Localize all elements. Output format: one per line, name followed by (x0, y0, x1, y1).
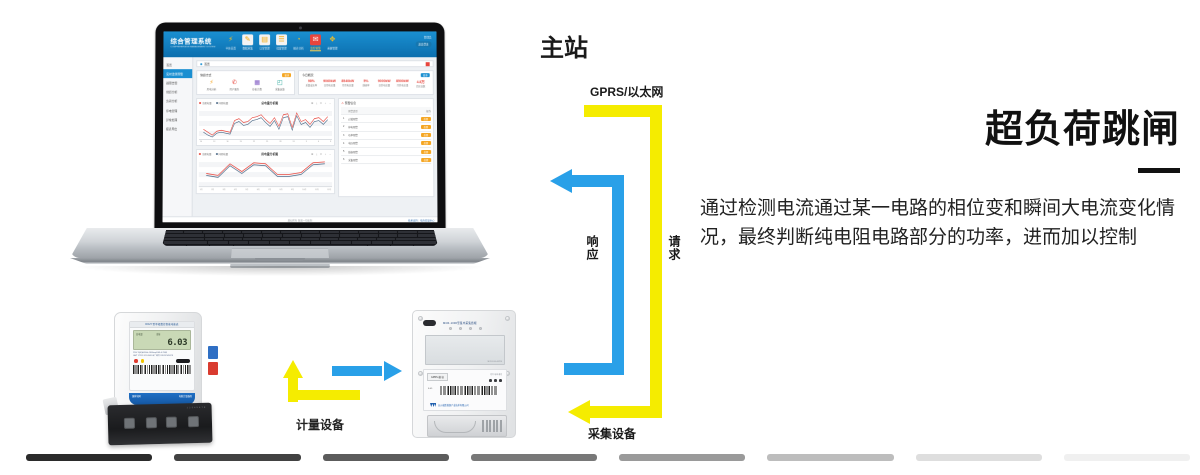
alert-row-2-no: 3 (341, 134, 346, 137)
keyboard-row (162, 238, 438, 241)
meter-barcode (133, 365, 191, 374)
led-comm-icon (469, 327, 472, 330)
footer-right: 技术支持：电力信息中心 (408, 218, 434, 222)
terminal-screw-icon (188, 416, 199, 427)
laptop-illustration: 综合管理系统 COMPREHENSIVE MANAGEMENT SYSTEM ⚡… (70, 22, 490, 302)
chart-0-xtick-5: 25 (266, 141, 268, 143)
meter-side-button-red[interactable] (208, 362, 218, 375)
toolbar-label-4: 统计分析 (293, 46, 304, 50)
yellow-arrow-head-up (283, 360, 303, 378)
alert-row-5-action[interactable]: 处理 (421, 158, 431, 162)
bottom-bar-6 (916, 454, 1042, 461)
alert-row-0-action[interactable]: 处理 (421, 117, 431, 121)
collector-lcd-caption: MCR-1000-GPRS (488, 361, 502, 363)
table-row[interactable]: 3 功率预警 处理 (341, 132, 431, 140)
yellow-arrow-horizontal (288, 390, 360, 400)
dashboard-lower: 当期电量 同期电量 总电量分析图 (196, 98, 435, 197)
meter-panel-title: DDZY型单相费控智能电能表 (130, 322, 194, 328)
table-row[interactable]: 5 线损预警 处理 (341, 148, 431, 156)
dashboard-toolbar: ⚡ 平台首页 ✎ 数据采集 ▤ 日常管理 (225, 31, 338, 51)
chart-1-xtick-7: 8月 (280, 188, 283, 191)
infographic-canvas: 综合管理系统 COMPREHENSIVE MANAGEMENT SYSTEM ⚡… (0, 0, 1200, 475)
logout-button[interactable]: 退出登录 (415, 41, 431, 47)
chart-1-title: 用电量分析图 (261, 152, 278, 156)
calendar-icon: ▤ (259, 34, 270, 45)
lcd-label-left: 总电量 (136, 332, 143, 336)
shortcut-item-2[interactable]: ▦ 抄表计费 (250, 80, 264, 91)
dashboard-app: 综合管理系统 COMPREHENSIVE MANAGEMENT SYSTEM ⚡… (162, 31, 437, 222)
toolbar-item-5[interactable]: ✉ 监控预警 (310, 34, 321, 51)
dashboard-body: 首页 实时监测预警 越限告警 线损分析 负荷分析 停电管理 异常处理 报表导出 (162, 57, 437, 222)
sidebar-item-6[interactable]: 异常处理 (163, 115, 192, 124)
table-row[interactable]: 4 电压预警 处理 (341, 140, 431, 148)
bottom-gradient-bars (0, 454, 1200, 461)
alert-table-head-row: 预警类型 操作 (341, 107, 431, 115)
toolbar-item-3[interactable]: ☰ 档案管理 (276, 34, 287, 51)
sidebar-item-0[interactable]: 首页 (163, 60, 192, 69)
terminal-screw-icon (166, 417, 177, 428)
chart-1-xtick-4: 5月 (245, 188, 248, 191)
blue-arrow-head-right (384, 361, 402, 381)
bottom-bar-3 (471, 454, 597, 461)
chart-0-xtick-3: 19 (240, 141, 242, 143)
app-brand-sub: COMPREHENSIVE MANAGEMENT SYSTEM (170, 46, 225, 48)
collector-title: MCR-1000型集中采集终端 (443, 321, 477, 325)
webcam-icon (299, 26, 302, 29)
meter-terminal-text: 1 2 3 4 5 6 7 8 (187, 407, 206, 409)
meter-lcd: 总电量 当前 6.03 (133, 330, 191, 350)
kpi-item-1: 9060kW 日用电总量 (320, 79, 338, 88)
dashboard-footer: 版权所有 保留一切权利 技术支持：电力信息中心 (162, 216, 437, 222)
kpi-label-6: 台区总数 (412, 84, 430, 88)
sidebar-item-5[interactable]: 停电管理 (163, 106, 192, 115)
table-row[interactable]: 1 过载预警 处理 (341, 115, 431, 123)
toolbar-label-1: 数据采集 (242, 46, 253, 50)
list-icon: ☰ (276, 34, 287, 45)
blue-arrow-stem (332, 366, 382, 376)
kpi-item-2: 8540kW 月用电总量 (339, 79, 357, 88)
lightning-icon: ⚡ (225, 34, 236, 45)
shortcut-icon-0: ⚡ (205, 80, 219, 87)
chart-0-title: 总电量分析图 (261, 101, 278, 105)
alert-row-4-no: 5 (341, 150, 346, 153)
bottom-bar-0 (26, 454, 152, 461)
kpi-label-3: 线损率 (357, 83, 375, 87)
close-icon[interactable] (426, 62, 430, 66)
chart-1-xtick-6: 7月 (268, 188, 271, 191)
collector-pins (482, 420, 502, 432)
dashboard-main: 首页 快捷方式 更多 (193, 57, 438, 222)
sidebar-item-2[interactable]: 越限告警 (163, 78, 192, 87)
app-brand: 综合管理系统 COMPREHENSIVE MANAGEMENT SYSTEM (163, 31, 225, 48)
toolbar-item-4[interactable]: ◔ 统计分析 (293, 34, 304, 51)
shortcut-list: ⚡ 用电分析 ✆ 用户服务 ▦ (200, 79, 291, 91)
chart-0-xtick-2: 16 (226, 141, 228, 143)
chart-0-plot (199, 106, 332, 140)
led-run-icon (459, 327, 462, 330)
alert-col-2: 操作 (426, 109, 431, 113)
table-row[interactable]: 2 停电预警 处理 (341, 123, 431, 131)
current-user: 管理员 (415, 35, 431, 39)
gprs-link-label: GPRS/以太网 (590, 83, 663, 100)
keyboard-row (162, 231, 438, 234)
chart-1-legend-label-0: 当期电量 (202, 152, 212, 156)
module-led-icon (489, 379, 492, 382)
laptop-screen: 综合管理系统 COMPREHENSIVE MANAGEMENT SYSTEM ⚡… (162, 31, 437, 222)
shortcut-label-2: 抄表计费 (250, 87, 264, 91)
dashboard-tabbar: 首页 (196, 60, 433, 67)
alert-row-5-no: 6 (341, 158, 346, 161)
led-alarm-icon (479, 327, 482, 330)
collector-module-label: GPRS 模 块 (427, 373, 448, 381)
main-station-label: 主站 (540, 28, 588, 63)
collector-barcode (440, 386, 498, 395)
meter-badge-right: 电能计量器具 (179, 394, 192, 398)
alert-row-2-action[interactable]: 处理 (421, 133, 431, 137)
chart-0-tools[interactable]: ⊞ ⤓ ⟳ ⌕ ⌄ (311, 102, 332, 105)
screw-icon (505, 316, 510, 321)
bottom-bar-2 (323, 454, 449, 461)
kpi-list: 98% 采集成功率 9060kW 日用电总量 8540k (302, 79, 430, 88)
alert-row-1-action[interactable]: 处理 (421, 125, 431, 129)
shortcut-card-header: 快捷方式 更多 (200, 73, 291, 77)
alert-col-1: 预警类型 (348, 109, 424, 113)
chart-0-legend-1[interactable]: 同期电量 (216, 101, 229, 105)
chart-0-legend: 当期电量 同期电量 (199, 101, 228, 105)
keyboard-row (162, 234, 438, 237)
chart-1-xtick-1: 2月 (211, 188, 214, 191)
keyboard-row (162, 241, 438, 244)
chart-0-xtick-9: 6 (318, 141, 319, 143)
shortcut-item-0[interactable]: ⚡ 用电分析 (205, 80, 219, 91)
toolbar-label-2: 日常管理 (259, 46, 270, 50)
collector-leds (449, 327, 482, 330)
lcd-label-right: 当前 (156, 332, 160, 336)
alert-table-header: ⚠ 预警信息 (341, 101, 431, 105)
alert-row-3-action[interactable]: 处理 (421, 141, 431, 145)
dashboard-sidebar: 首页 实时监测预警 越限告警 线损分析 负荷分析 停电管理 异常处理 报表导出 (162, 57, 193, 222)
collector-terminal-block (427, 415, 507, 437)
toolbar-label-6: 系统管理 (327, 46, 338, 50)
meter-side-button-blue[interactable] (208, 346, 218, 359)
yellow-arrow-stem (288, 376, 298, 402)
kpi-card: 今日概况 更多 98% 采集成功率 (298, 70, 434, 95)
module-led-icon (494, 379, 497, 382)
alert-row-4-type: 线损预警 (348, 150, 419, 154)
tab-home[interactable]: 首页 (204, 62, 210, 66)
blue-response-top (572, 175, 624, 187)
kpi-label-1: 日用电总量 (320, 83, 338, 87)
toolbar-item-1[interactable]: ✎ 数据采集 (242, 34, 253, 51)
chart-0-xtick-7: 31 (293, 141, 295, 143)
kpi-card-title: 今日概况 (302, 73, 313, 77)
collector-barcode-label: K-09 (428, 388, 432, 390)
gear-icon: ✥ (327, 34, 338, 45)
collector-module-area: GPRS 模 块 信号 电源 通信 K-09 长沙威胜能源产业技术有限公司 (423, 369, 507, 411)
bottom-bar-1 (174, 454, 300, 461)
meter-panel: DDZY型单相费控智能电能表 总电量 当前 6.03 220V 5(60)A 5… (129, 321, 195, 391)
lcd-value: 6.03 (167, 339, 187, 348)
page-description: 通过检测电流通过某一电路的相位变和瞬间大电流变化情况，最终判断纯电阻电路部分的功… (660, 194, 1180, 253)
sidebar-item-7[interactable]: 报表导出 (163, 124, 192, 133)
chart-0-xtick-0: 10 (200, 141, 202, 143)
chart-0-xaxis: 10 13 16 19 22 25 28 31 (199, 141, 332, 143)
chart-total-power: 当期电量 同期电量 总电量分析图 (196, 98, 335, 146)
chart-0-legend-label-1: 同期电量 (219, 101, 229, 105)
legend-dot-icon (199, 153, 201, 155)
bottom-bar-7 (1064, 454, 1190, 461)
laptop-notch (255, 258, 305, 261)
alert-table-title: 预警信息 (345, 101, 356, 105)
shortcut-icon-3: ◰ (273, 80, 287, 87)
kpi-label-4: 日供电总量 (375, 83, 393, 87)
chart-1-tools[interactable]: ⊞ ⤓ ⟳ ⌕ ⌄ (311, 153, 332, 156)
toolbar-item-2[interactable]: ▤ 日常管理 (259, 34, 270, 51)
keyboard-row (162, 245, 438, 246)
kpi-card-header: 今日概况 更多 (302, 73, 430, 77)
alert-row-2-type: 功率预警 (348, 133, 418, 137)
sidebar-item-1[interactable]: 实时监测预警 (163, 69, 192, 78)
alert-row-5-type: 采集预警 (348, 158, 419, 162)
shortcut-card: 快捷方式 更多 ⚡ 用电分析 (196, 70, 295, 95)
chart-1-legend: 当期电量 同期电量 (199, 152, 228, 156)
chart-1-legend-1[interactable]: 同期电量 (215, 152, 228, 156)
kpi-label-2: 月用电总量 (339, 83, 357, 87)
alert-row-1-type: 停电预警 (348, 125, 418, 129)
chart-1-xtick-10: 11月 (315, 188, 319, 191)
chart-1-xtick-9: 10月 (302, 188, 306, 191)
shortcut-label-3: 采集运维 (273, 87, 287, 91)
chart-0-svg (199, 106, 332, 139)
dashboard-user-area: 管理员 退出登录 (415, 35, 431, 47)
shortcut-item-3[interactable]: ◰ 采集运维 (273, 80, 287, 91)
terminal-screw-icon (124, 418, 135, 429)
alert-row-0-type: 过载预警 (348, 117, 418, 121)
dashboard-cards: 快捷方式 更多 ⚡ 用电分析 (196, 70, 434, 95)
collector-wire (434, 421, 476, 433)
meter-body: DDZY型单相费控智能电能表 总电量 当前 6.03 220V 5(60)A 5… (114, 312, 202, 410)
laptop-lid: 综合管理系统 COMPREHENSIVE MANAGEMENT SYSTEM ⚡… (154, 22, 445, 232)
table-row[interactable]: 6 采集预警 处理 (341, 156, 431, 164)
headline-block: 超负荷跳闸 通过检测电流通过某一电路的相位变和瞬间大电流变化情况，最终判断纯电阻… (660, 110, 1180, 253)
dashboard-header: 综合管理系统 COMPREHENSIVE MANAGEMENT SYSTEM ⚡… (163, 31, 436, 57)
app-brand-name: 综合管理系统 (170, 38, 211, 45)
chart-0-xtick-4: 22 (253, 141, 255, 143)
chart-0-header: 当期电量 同期电量 总电量分析图 (199, 101, 332, 105)
shortcut-label-1: 用户服务 (227, 87, 241, 91)
legend-dot-icon (199, 102, 201, 104)
collector-device-label: 采集设备 (588, 425, 636, 442)
alert-row-3-type: 电压预警 (348, 141, 418, 145)
pie-chart-icon: ◔ (293, 34, 304, 45)
data-collector: MCR-1000型集中采集终端 MCR-1000-GPRS GPRS 模 块 信… (408, 310, 520, 450)
alert-row-4-action[interactable]: 处理 (421, 150, 431, 154)
yellow-request-bottom (588, 406, 662, 418)
bottom-bar-5 (767, 454, 893, 461)
kpi-item-4: 9000kW 日供电总量 (375, 79, 393, 88)
alert-row-3-no: 4 (341, 142, 346, 145)
chart-column: 当期电量 同期电量 总电量分析图 (196, 98, 336, 197)
chart-1-xtick-0: 1月 (200, 188, 203, 191)
shortcut-label-0: 用电分析 (205, 87, 219, 91)
chart-1-legend-0[interactable]: 当期电量 (199, 152, 212, 156)
meter-indicators (130, 357, 194, 363)
edit-icon: ✎ (242, 34, 253, 45)
blue-response-vertical (612, 175, 624, 375)
shortcut-more-button[interactable]: 更多 (283, 73, 292, 77)
alert-row-0-no: 1 (341, 117, 346, 120)
meter-terminal-block: 1 2 3 4 5 6 7 8 (107, 403, 212, 446)
response-label: 响应 (584, 235, 601, 261)
alert-icon: ✉ (310, 34, 321, 45)
bottom-bar-4 (619, 454, 745, 461)
collector-module-leds (489, 379, 502, 382)
led-red-icon (134, 359, 138, 363)
footer-left: 版权所有 保留一切权利 (288, 218, 313, 222)
laptop-keyboard (162, 230, 438, 246)
toolbar-label-3: 档案管理 (276, 46, 287, 50)
collector-module-sub: 信号 电源 通信 (490, 373, 502, 376)
chart-1-header: 当期电量 同期电量 用电量分析图 (199, 152, 332, 156)
chart-1-xtick-2: 3月 (223, 188, 226, 191)
module-led-icon (499, 379, 502, 382)
chart-1-xaxis: 1月 2月 3月 4月 5月 6月 7月 8月 (199, 188, 333, 191)
screw-icon (418, 316, 423, 321)
kpi-more-button[interactable]: 更多 (421, 73, 430, 77)
collector-lcd: MCR-1000-GPRS (425, 335, 505, 365)
toolbar-label-0: 平台首页 (225, 46, 236, 50)
chart-usage: 当期电量 同期电量 用电量分析图 (196, 149, 336, 194)
yellow-request-arrowhead (568, 400, 590, 424)
company-logo-icon (430, 403, 436, 407)
legend-dot-icon (216, 102, 218, 104)
collector-company-name: 长沙威胜能源产业技术有限公司 (438, 403, 469, 407)
kpi-item-0: 98% 采集成功率 (302, 79, 320, 88)
chart-0-xtick-1: 13 (213, 141, 215, 143)
toolbar-item-0[interactable]: ⚡ 平台首页 (225, 34, 236, 51)
sidebar-item-4[interactable]: 负荷分析 (163, 97, 192, 106)
metering-device-label: 计量设备 (296, 416, 344, 433)
tab-dot-icon (200, 63, 202, 65)
chart-0-xtick-8: 3 (306, 141, 307, 143)
sidebar-item-3[interactable]: 线损分析 (163, 88, 192, 97)
shortcut-card-title: 快捷方式 (200, 73, 211, 77)
chart-1-legend-label-1: 同期电量 (218, 152, 228, 156)
electricity-meter: DDZY型单相费控智能电能表 总电量 当前 6.03 220V 5(60)A 5… (108, 312, 216, 447)
ir-port-icon (176, 359, 190, 363)
metering-flow-arrows: 计量设备 (288, 360, 398, 408)
kpi-item-3: 5% 线损率 (357, 79, 375, 88)
chart-1-svg (199, 157, 333, 186)
led-yellow-icon (141, 359, 145, 363)
warning-icon: ⚠ (341, 101, 344, 105)
blue-response-arrowhead (550, 169, 572, 193)
shortcut-item-1[interactable]: ✆ 用户服务 (227, 80, 241, 91)
alert-table: ⚠ 预警信息 预警类型 操作 1 (338, 98, 434, 197)
collector-body: MCR-1000型集中采集终端 MCR-1000-GPRS GPRS 模 块 信… (412, 310, 516, 438)
toolbar-label-5: 监控预警 (310, 46, 321, 51)
kpi-item-5: 8500kW 月供电总量 (393, 79, 411, 88)
page-title: 超负荷跳闸 (660, 110, 1180, 152)
kpi-label-5: 月供电总量 (393, 83, 411, 87)
laptop-shadow (78, 266, 482, 276)
alert-row-1-no: 2 (341, 125, 346, 128)
terminal-screw-icon (146, 417, 157, 428)
shortcut-icon-2: ▦ (250, 80, 264, 87)
meter-side-buttons (208, 346, 218, 378)
chart-1-plot (199, 157, 333, 187)
chart-0-xtick-6: 28 (279, 141, 281, 143)
chart-0-legend-label-0: 当期电量 (202, 101, 212, 105)
legend-dot-icon (215, 153, 217, 155)
chart-1-xtick-8: 9月 (291, 188, 294, 191)
collector-ir-port-icon (423, 320, 436, 326)
kpi-item-6: 4.8万 台区总数 (412, 79, 430, 88)
chart-1-xtick-5: 6月 (257, 188, 260, 191)
chart-0-xtick-10: 8 (330, 141, 331, 143)
toolbar-item-6[interactable]: ✥ 系统管理 (327, 34, 338, 51)
shortcut-icon-1: ✆ (227, 80, 241, 87)
meter-badge-left: 国家电网 (132, 394, 141, 398)
chart-1-xtick-3: 4月 (234, 188, 237, 191)
led-power-icon (449, 327, 452, 330)
chart-1-xtick-11: 12月 (327, 188, 331, 191)
kpi-label-0: 采集成功率 (302, 83, 320, 87)
collector-company: 长沙威胜能源产业技术有限公司 (430, 403, 469, 407)
title-divider (1138, 168, 1180, 173)
chart-0-legend-0[interactable]: 当期电量 (199, 101, 212, 105)
